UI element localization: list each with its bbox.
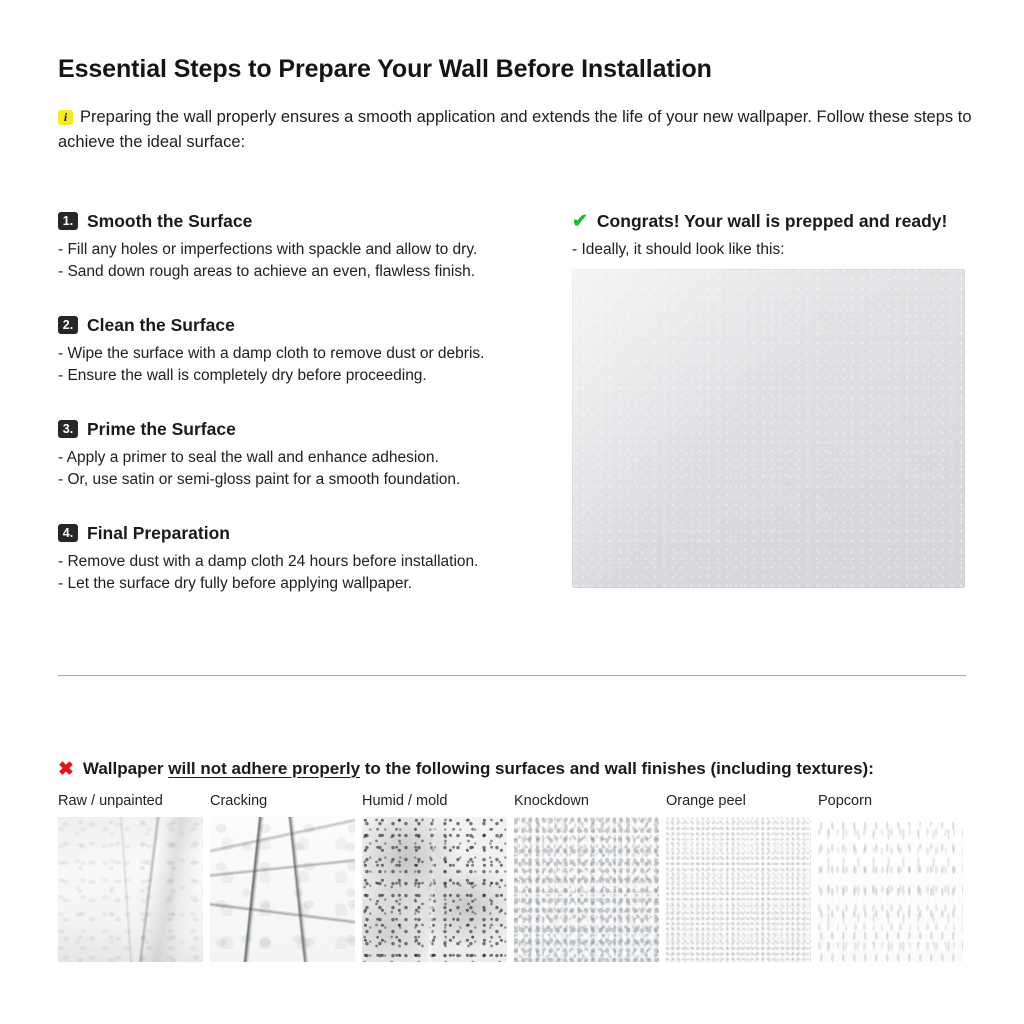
texture-cell: Cracking	[210, 792, 355, 962]
texture-cell: Humid / mold	[362, 792, 507, 962]
texture-label: Orange peel	[666, 792, 811, 810]
texture-label: Raw / unpainted	[58, 792, 203, 810]
step-heading-row: 2. Clean the Surface	[58, 314, 538, 336]
humid-mold-texture-image	[362, 817, 507, 962]
warning-heading: ✖ Wallpaper will not adhere properly to …	[58, 757, 978, 781]
step-bullet: - Apply a primer to seal the wall and en…	[58, 447, 538, 469]
warning-text-after: to the following surfaces and wall finis…	[360, 759, 874, 778]
warning-text: Wallpaper will not adhere properly to th…	[83, 757, 874, 781]
step-bullet: - Wipe the surface with a damp cloth to …	[58, 343, 538, 365]
step-heading: Clean the Surface	[87, 314, 235, 336]
texture-label: Humid / mold	[362, 792, 507, 810]
step-bullet: - Remove dust with a damp cloth 24 hours…	[58, 551, 538, 573]
step-heading-row: 1. Smooth the Surface	[58, 210, 538, 232]
texture-cell: Orange peel	[666, 792, 811, 962]
step-bullet: - Or, use satin or semi-gloss paint for …	[58, 469, 538, 491]
step-item: 3. Prime the Surface - Apply a primer to…	[58, 418, 538, 490]
step-heading: Prime the Surface	[87, 418, 236, 440]
step-number-badge: 2.	[58, 316, 78, 334]
step-bullet: - Sand down rough areas to achieve an ev…	[58, 261, 538, 283]
check-icon: ✔	[572, 212, 588, 231]
step-number-badge: 1.	[58, 212, 78, 230]
texture-label: Knockdown	[514, 792, 659, 810]
orange-peel-texture-image	[666, 817, 811, 962]
success-subtext: - Ideally, it should look like this:	[572, 239, 967, 260]
step-heading: Final Preparation	[87, 522, 230, 544]
step-item: 1. Smooth the Surface - Fill any holes o…	[58, 210, 538, 282]
texture-cell: Raw / unpainted	[58, 792, 203, 962]
intro-paragraph: iPreparing the wall properly ensures a s…	[58, 105, 973, 155]
success-heading: Congrats! Your wall is prepped and ready…	[597, 210, 947, 232]
step-number-badge: 4.	[58, 524, 78, 542]
steps-list: 1. Smooth the Surface - Fill any holes o…	[58, 210, 538, 594]
prepped-wall-image	[572, 269, 965, 588]
step-bullet: - Let the surface dry fully before apply…	[58, 573, 538, 595]
warning-emphasis: will not adhere properly	[168, 759, 360, 778]
success-heading-row: ✔ Congrats! Your wall is prepped and rea…	[572, 210, 967, 232]
section-divider	[58, 675, 966, 676]
step-item: 4. Final Preparation - Remove dust with …	[58, 522, 538, 594]
step-heading-row: 4. Final Preparation	[58, 522, 538, 544]
warning-text-before: Wallpaper	[83, 759, 168, 778]
wallpaper-prep-guide-page: Essential Steps to Prepare Your Wall Bef…	[0, 0, 1024, 1024]
step-bullet: - Fill any holes or imperfections with s…	[58, 239, 538, 261]
popcorn-texture-image	[818, 817, 963, 962]
step-heading: Smooth the Surface	[87, 210, 252, 232]
texture-cell: Knockdown	[514, 792, 659, 962]
texture-label: Cracking	[210, 792, 355, 810]
success-panel: ✔ Congrats! Your wall is prepped and rea…	[572, 210, 967, 588]
page-title: Essential Steps to Prepare Your Wall Bef…	[58, 55, 978, 84]
step-heading-row: 3. Prime the Surface	[58, 418, 538, 440]
info-icon: i	[58, 110, 73, 125]
texture-cell: Popcorn	[818, 792, 963, 962]
x-icon: ✖	[58, 760, 74, 779]
raw-unpainted-texture-image	[58, 817, 203, 962]
intro-text: Preparing the wall properly ensures a sm…	[58, 108, 972, 151]
knockdown-texture-image	[514, 817, 659, 962]
texture-label: Popcorn	[818, 792, 963, 810]
step-number-badge: 3.	[58, 420, 78, 438]
step-bullet: - Ensure the wall is completely dry befo…	[58, 365, 538, 387]
cracking-texture-image	[210, 817, 355, 962]
step-item: 2. Clean the Surface - Wipe the surface …	[58, 314, 538, 386]
texture-gallery: Raw / unpainted Cracking Humid / mold Kn…	[58, 792, 973, 962]
